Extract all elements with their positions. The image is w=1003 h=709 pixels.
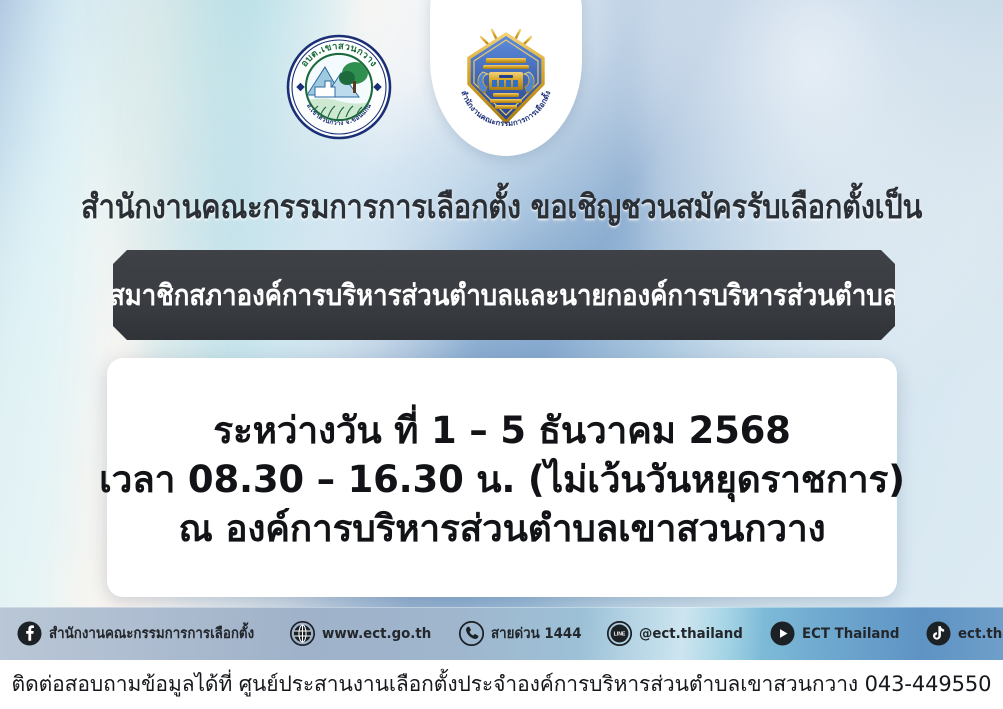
details-line-date: ระหว่างวัน ที่ 1 – 5 ธันวาคม 2568 — [213, 406, 790, 455]
youtube-icon — [770, 621, 795, 646]
social-item-website[interactable]: www.ect.go.th — [290, 621, 441, 646]
poster-canvas: อบต.เขาสวนกวาง อ.เขาสวนกวาง จ.ขอนแก่น — [0, 0, 1003, 709]
social-label: ect.thailand — [958, 626, 1003, 642]
details-line-venue: ณ องค์การบริหารส่วนตำบลเขาสวนกวาง — [179, 504, 826, 553]
globe-icon — [290, 621, 315, 646]
social-item-tiktok[interactable]: ect.thailand — [926, 621, 1003, 646]
svg-text:LINE: LINE — [614, 631, 626, 637]
social-label: @ect.thailand — [639, 626, 743, 642]
social-item-facebook[interactable]: สำนักงานคณะกรรมการการเลือกตั้ง — [17, 621, 272, 646]
social-label: www.ect.go.th — [322, 626, 431, 642]
social-item-hotline[interactable]: สายด่วน 1444 — [459, 621, 589, 646]
details-card: ระหว่างวัน ที่ 1 – 5 ธันวาคม 2568 เวลา 0… — [107, 358, 897, 597]
facebook-icon — [17, 621, 42, 646]
social-item-youtube[interactable]: ECT Thailand — [770, 621, 908, 646]
contact-strip: ติดต่อสอบถามข้อมูลได้ที่ ศูนย์ประสานงานเ… — [0, 660, 1003, 709]
local-government-seal-icon: อบต.เขาสวนกวาง อ.เขาสวนกวาง จ.ขอนแก่น — [285, 33, 393, 141]
social-item-line[interactable]: LINE @ect.thailand — [607, 621, 752, 646]
contact-text: ติดต่อสอบถามข้อมูลได้ที่ ศูนย์ประสานงานเ… — [12, 668, 992, 701]
position-banner-text: สมาชิกสภาองค์การบริหารส่วนตำบลและนายกองค… — [109, 272, 899, 318]
tiktok-icon — [926, 621, 951, 646]
details-line-time: เวลา 08.30 – 16.30 น. (ไม่เว้นวันหยุดราช… — [99, 455, 905, 504]
social-label: สายด่วน 1444 — [491, 622, 582, 645]
social-links-bar: สำนักงานคณะกรรมการการเลือกตั้ง www.ect.g… — [0, 607, 1003, 660]
ect-emblem-icon: สำนักงานคณะกรรมการการเลือกตั้ง — [447, 18, 565, 136]
social-label: สำนักงานคณะกรรมการการเลือกตั้ง — [49, 622, 254, 645]
phone-icon — [459, 621, 484, 646]
social-label: ECT Thailand — [802, 626, 899, 642]
line-icon: LINE — [607, 621, 632, 646]
position-banner: สมาชิกสภาองค์การบริหารส่วนตำบลและนายกองค… — [113, 250, 895, 340]
poster-headline: สำนักงานคณะกรรมการการเลือกตั้ง ขอเชิญชวน… — [60, 180, 943, 233]
